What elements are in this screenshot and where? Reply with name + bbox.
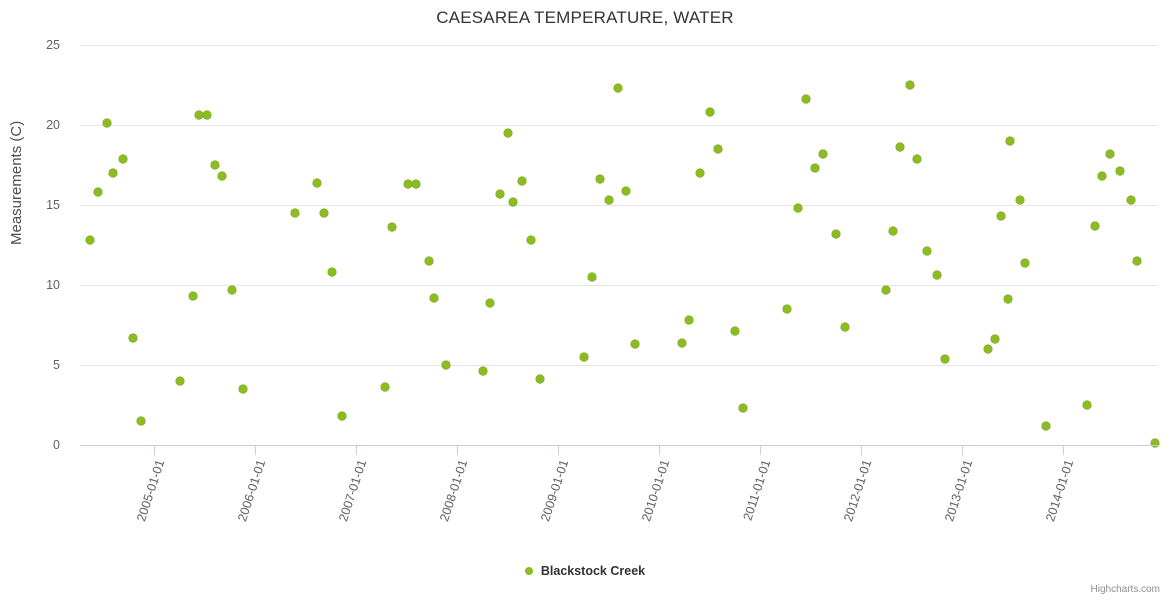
data-point[interactable] (328, 268, 336, 276)
data-point[interactable] (313, 179, 321, 187)
data-point[interactable] (203, 111, 211, 119)
x-axis-tick-label: 2005-01-01 (134, 458, 167, 523)
data-point[interactable] (906, 81, 914, 89)
data-point[interactable] (518, 177, 526, 185)
data-point[interactable] (913, 155, 921, 163)
data-point[interactable] (527, 236, 535, 244)
data-point[interactable] (882, 286, 890, 294)
x-axis-tick-mark (760, 446, 761, 455)
data-point[interactable] (137, 417, 145, 425)
data-point[interactable] (412, 180, 420, 188)
data-point[interactable] (588, 273, 596, 281)
data-point[interactable] (195, 111, 203, 119)
data-point[interactable] (218, 172, 226, 180)
data-point[interactable] (103, 119, 111, 127)
data-point[interactable] (479, 367, 487, 375)
data-point[interactable] (430, 294, 438, 302)
y-axis-tick-label: 25 (0, 38, 60, 52)
x-axis-tick-mark (1063, 446, 1064, 455)
data-point[interactable] (504, 129, 512, 137)
data-point[interactable] (1116, 167, 1124, 175)
y-axis-tick-label: 0 (0, 438, 60, 452)
x-axis-tick-mark (255, 446, 256, 455)
data-point[interactable] (338, 412, 346, 420)
data-point[interactable] (923, 247, 931, 255)
data-point[interactable] (984, 345, 992, 353)
data-point[interactable] (1042, 422, 1050, 430)
gridline (80, 205, 1158, 206)
data-point[interactable] (189, 292, 197, 300)
y-axis-tick-label: 5 (0, 358, 60, 372)
data-point[interactable] (94, 188, 102, 196)
x-axis-tick-mark (457, 446, 458, 455)
data-point[interactable] (731, 327, 739, 335)
data-point[interactable] (1151, 439, 1159, 447)
x-axis-tick-label: 2006-01-01 (235, 458, 268, 523)
gridline (80, 125, 1158, 126)
data-point[interactable] (678, 339, 686, 347)
data-point[interactable] (109, 169, 117, 177)
data-point[interactable] (1021, 259, 1029, 267)
data-point[interactable] (991, 335, 999, 343)
data-point[interactable] (706, 108, 714, 116)
legend-item-blackstock-creek[interactable]: Blackstock Creek (525, 563, 645, 578)
data-point[interactable] (739, 404, 747, 412)
data-point[interactable] (381, 383, 389, 391)
highcharts-credits[interactable]: Highcharts.com (1091, 584, 1160, 595)
chart-legend: Blackstock Creek (0, 563, 1170, 578)
x-axis-tick-label: 2014-01-01 (1043, 458, 1076, 523)
chart-title: CAESAREA TEMPERATURE, WATER (0, 8, 1170, 28)
data-point[interactable] (997, 212, 1005, 220)
data-point[interactable] (596, 175, 604, 183)
data-point[interactable] (1106, 150, 1114, 158)
data-point[interactable] (631, 340, 639, 348)
plot-area (80, 45, 1158, 445)
data-point[interactable] (129, 334, 137, 342)
data-point[interactable] (509, 198, 517, 206)
data-point[interactable] (86, 236, 94, 244)
data-point[interactable] (889, 227, 897, 235)
data-point[interactable] (811, 164, 819, 172)
data-point[interactable] (819, 150, 827, 158)
x-axis-tick-mark (659, 446, 660, 455)
x-axis-tick-label: 2009-01-01 (538, 458, 571, 523)
data-point[interactable] (239, 385, 247, 393)
x-axis-tick-label: 2010-01-01 (639, 458, 672, 523)
data-point[interactable] (496, 190, 504, 198)
x-axis-tick-mark (356, 446, 357, 455)
data-point[interactable] (119, 155, 127, 163)
gridline (80, 45, 1158, 46)
gridline (80, 365, 1158, 366)
x-axis-tick-label: 2007-01-01 (336, 458, 369, 523)
data-point[interactable] (176, 377, 184, 385)
data-point[interactable] (622, 187, 630, 195)
x-axis-tick-label: 2008-01-01 (437, 458, 470, 523)
data-point[interactable] (1098, 172, 1106, 180)
legend-marker-icon (525, 567, 533, 575)
data-point[interactable] (1133, 257, 1141, 265)
data-point[interactable] (388, 223, 396, 231)
data-point[interactable] (1127, 196, 1135, 204)
data-point[interactable] (1006, 137, 1014, 145)
y-axis-tick-label: 10 (0, 278, 60, 292)
data-point[interactable] (714, 145, 722, 153)
data-point[interactable] (832, 230, 840, 238)
gridline (80, 285, 1158, 286)
data-point[interactable] (802, 95, 810, 103)
data-point[interactable] (404, 180, 412, 188)
data-point[interactable] (211, 161, 219, 169)
y-axis-tick-label: 15 (0, 198, 60, 212)
data-point[interactable] (685, 316, 693, 324)
chart-container: CAESAREA TEMPERATURE, WATER Measurements… (0, 0, 1170, 600)
data-point[interactable] (1083, 401, 1091, 409)
x-axis-tick-mark (861, 446, 862, 455)
data-point[interactable] (794, 204, 802, 212)
data-point[interactable] (320, 209, 328, 217)
data-point[interactable] (696, 169, 704, 177)
x-axis-line (80, 445, 1158, 446)
x-axis-tick-mark (558, 446, 559, 455)
x-axis-tick-label: 2011-01-01 (741, 458, 774, 522)
data-point[interactable] (614, 84, 622, 92)
data-point[interactable] (536, 375, 544, 383)
x-axis-tick-mark (962, 446, 963, 455)
x-axis-tick-label: 2012-01-01 (841, 458, 874, 523)
data-point[interactable] (896, 143, 904, 151)
data-point[interactable] (841, 323, 849, 331)
data-point[interactable] (291, 209, 299, 217)
data-point[interactable] (941, 355, 949, 363)
y-axis-tick-label: 20 (0, 118, 60, 132)
data-point[interactable] (228, 286, 236, 294)
data-point[interactable] (425, 257, 433, 265)
data-point[interactable] (1004, 295, 1012, 303)
data-point[interactable] (1091, 222, 1099, 230)
data-point[interactable] (1016, 196, 1024, 204)
data-point[interactable] (580, 353, 588, 361)
x-axis-tick-mark (154, 446, 155, 455)
x-axis-tick-label: 2013-01-01 (942, 458, 975, 523)
data-point[interactable] (486, 299, 494, 307)
data-point[interactable] (605, 196, 613, 204)
data-point[interactable] (442, 361, 450, 369)
legend-item-label: Blackstock Creek (541, 564, 645, 578)
data-point[interactable] (783, 305, 791, 313)
y-axis-title: Measurements (C) (8, 121, 25, 245)
data-point[interactable] (933, 271, 941, 279)
